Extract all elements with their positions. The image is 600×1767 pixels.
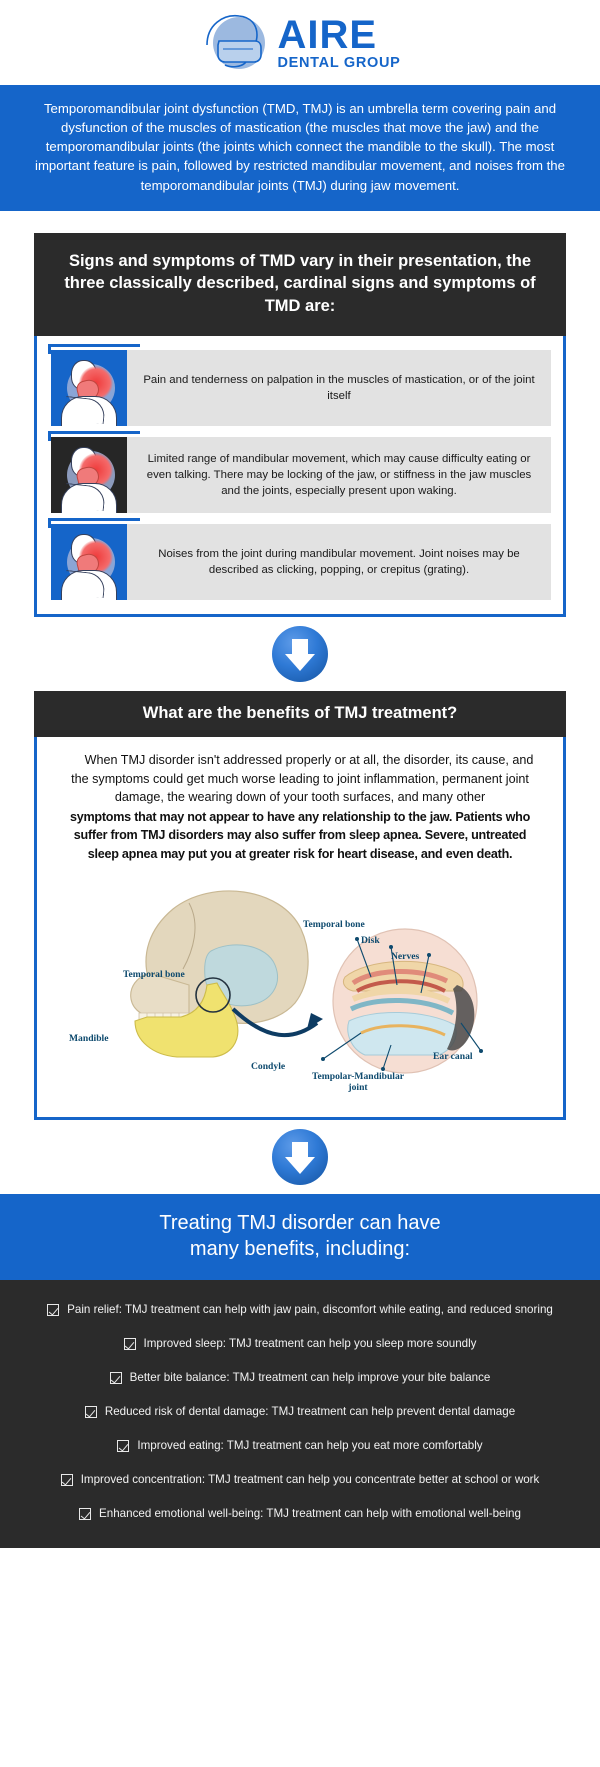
- intro-banner: Temporomandibular joint dysfunction (TMD…: [0, 85, 600, 211]
- diagram-label-nerves: Nerves: [391, 951, 419, 962]
- section-divider-arrow: [0, 617, 600, 691]
- diagram-label-temporal-bone-skull: Temporal bone: [123, 969, 185, 980]
- diagram-label-condyle: Condyle: [251, 1061, 285, 1072]
- checkbox-checked-icon: [47, 1304, 59, 1316]
- symptom-card: Noises from the joint during mandibular …: [51, 524, 551, 600]
- list-item-label: Better bite balance: TMJ treatment can h…: [130, 1370, 491, 1386]
- checkbox-checked-icon: [124, 1338, 136, 1350]
- symptoms-section: Signs and symptoms of TMD vary in their …: [0, 211, 600, 617]
- symptoms-card-list: Pain and tenderness on palpation in the …: [34, 336, 566, 617]
- benefits-section: What are the benefits of TMJ treatment? …: [0, 691, 600, 1120]
- logo[interactable]: AIRE DENTAL GROUP: [199, 11, 400, 75]
- benefits-body: When TMJ disorder isn't addressed proper…: [34, 737, 566, 1120]
- list-item-label: Reduced risk of dental damage: TMJ treat…: [105, 1404, 515, 1420]
- diagram-label-joint: Tempolar-Mandibular joint: [303, 1071, 413, 1093]
- arrow-down-circle-icon: [272, 626, 328, 682]
- list-item-label: Improved eating: TMJ treatment can help …: [137, 1438, 482, 1454]
- tmj-anatomy-diagram: Temporal bone Mandible Temporal bone Dis…: [61, 873, 539, 1101]
- diagram-label-disk: Disk: [361, 935, 380, 946]
- treating-section: Treating TMJ disorder can have many bene…: [0, 1194, 600, 1548]
- symptoms-heading: Signs and symptoms of TMD vary in their …: [34, 233, 566, 336]
- diagram-label-ear-canal: Ear canal: [433, 1051, 473, 1062]
- list-item: Better bite balance: TMJ treatment can h…: [18, 1370, 582, 1386]
- person-holding-jaw-in-pain-icon: [51, 350, 127, 426]
- head-jaw-icon: [199, 11, 273, 75]
- list-item-label: Improved sleep: TMJ treatment can help y…: [144, 1336, 477, 1352]
- intro-text: Temporomandibular joint dysfunction (TMD…: [35, 101, 565, 193]
- person-holding-jaw-in-pain-icon: [51, 524, 127, 600]
- diagram-label-mandible: Mandible: [69, 1033, 108, 1044]
- symptom-card-text: Pain and tenderness on palpation in the …: [127, 350, 551, 426]
- treating-heading: Treating TMJ disorder can have many bene…: [0, 1194, 600, 1280]
- brand-header: AIRE DENTAL GROUP: [0, 0, 600, 85]
- checkbox-checked-icon: [79, 1508, 91, 1520]
- arrow-down-circle-icon: [272, 1129, 328, 1185]
- list-item-label: Enhanced emotional well-being: TMJ treat…: [99, 1506, 521, 1522]
- person-holding-jaw-in-pain-icon: [51, 437, 127, 513]
- benefits-paragraph-lead: When TMJ disorder isn't addressed proper…: [61, 751, 539, 807]
- list-item: Pain relief: TMJ treatment can help with…: [18, 1302, 582, 1318]
- symptom-card-text: Limited range of mandibular movement, wh…: [127, 437, 551, 513]
- symptom-card-text: Noises from the joint during mandibular …: [127, 524, 551, 600]
- list-item-label: Pain relief: TMJ treatment can help with…: [67, 1302, 553, 1318]
- list-item: Improved eating: TMJ treatment can help …: [18, 1438, 582, 1454]
- checkbox-checked-icon: [117, 1440, 129, 1452]
- benefit-checklist: Pain relief: TMJ treatment can help with…: [0, 1280, 600, 1548]
- symptom-card: Pain and tenderness on palpation in the …: [51, 350, 551, 426]
- list-item: Enhanced emotional well-being: TMJ treat…: [18, 1506, 582, 1522]
- treating-heading-line1: Treating TMJ disorder can have: [10, 1210, 590, 1236]
- logo-title: AIRE: [277, 15, 400, 55]
- symptom-card: Limited range of mandibular movement, wh…: [51, 437, 551, 513]
- list-item: Improved concentration: TMJ treatment ca…: [18, 1472, 582, 1488]
- benefits-paragraph-emphasis: symptoms that may not appear to have any…: [61, 808, 539, 864]
- checkbox-checked-icon: [61, 1474, 73, 1486]
- list-item: Improved sleep: TMJ treatment can help y…: [18, 1336, 582, 1352]
- logo-subtitle: DENTAL GROUP: [277, 56, 400, 71]
- section-divider-arrow: [0, 1120, 600, 1194]
- checkbox-checked-icon: [110, 1372, 122, 1384]
- treating-heading-line2: many benefits, including:: [10, 1236, 590, 1262]
- diagram-label-temporal-bone-detail: Temporal bone: [303, 919, 365, 930]
- list-item-label: Improved concentration: TMJ treatment ca…: [81, 1472, 540, 1488]
- benefits-heading: What are the benefits of TMJ treatment?: [34, 691, 566, 737]
- list-item: Reduced risk of dental damage: TMJ treat…: [18, 1404, 582, 1420]
- checkbox-checked-icon: [85, 1406, 97, 1418]
